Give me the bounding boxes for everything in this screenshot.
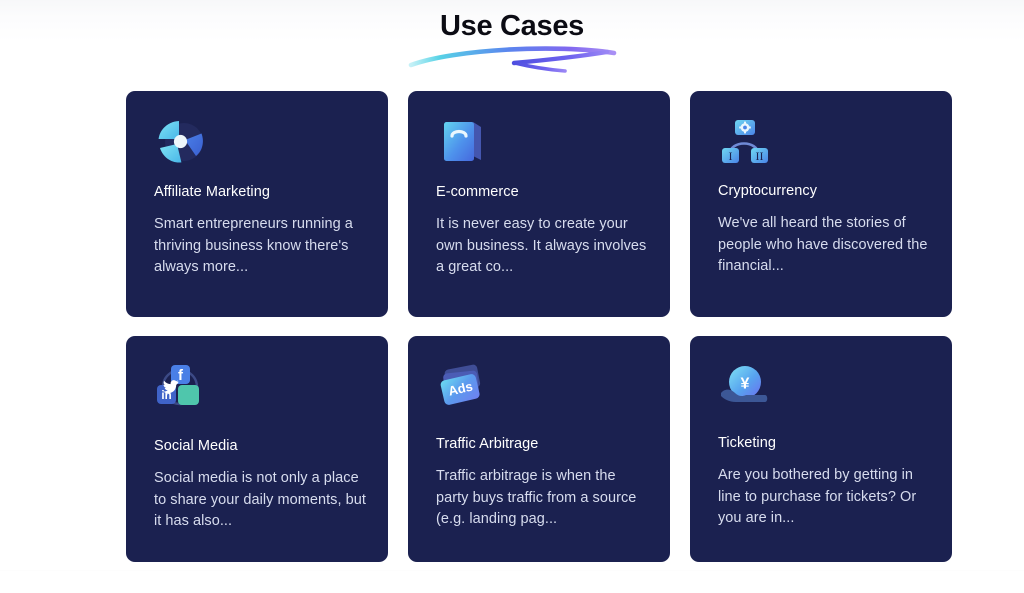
crypto-node-left-label: I [729, 149, 733, 163]
use-cases-section: Use Cases [0, 0, 1024, 593]
use-case-description: It is never easy to create your own busi… [436, 214, 648, 279]
use-case-title: Affiliate Marketing [154, 182, 366, 202]
network-nodes-gear-icon: I II [718, 116, 776, 170]
use-case-card[interactable]: ¥ Ticketing Are you bothered by getting … [690, 336, 952, 562]
use-case-card[interactable]: E-commerce It is never easy to create yo… [408, 91, 670, 317]
social-network-logos-icon: f in [154, 361, 212, 415]
use-case-description: We've all heard the stories of people wh… [718, 213, 930, 278]
yen-symbol: ¥ [741, 376, 750, 393]
use-case-title: Ticketing [718, 433, 930, 453]
use-case-card[interactable]: Ads Traffic Arbitrage Traffic arbitrage … [408, 336, 670, 562]
ads-cards-icon: Ads [436, 361, 494, 415]
use-case-description: Are you bothered by getting in line to p… [718, 465, 930, 530]
section-header: Use Cases [0, 6, 1024, 78]
hand-holding-yen-icon: ¥ [718, 361, 776, 415]
use-case-description: Social media is not only a place to shar… [154, 468, 366, 533]
use-case-title: E-commerce [436, 182, 648, 202]
page-title: Use Cases [0, 6, 1024, 46]
use-case-title: Social Media [154, 436, 366, 456]
use-case-card[interactable]: Affiliate Marketing Smart entrepreneurs … [126, 91, 388, 317]
use-case-description: Smart entrepreneurs running a thriving b… [154, 214, 366, 279]
pinwheel-icon [154, 115, 212, 169]
use-case-card[interactable]: f in Social Media Social media is not on… [126, 336, 388, 562]
use-case-card[interactable]: I II Cryptocurrency We've all heard the … [690, 91, 952, 317]
use-case-title: Traffic Arbitrage [436, 434, 648, 454]
use-case-card-grid: Affiliate Marketing Smart entrepreneurs … [126, 91, 952, 562]
gradient-swoosh-underline-icon [407, 44, 617, 78]
use-case-description: Traffic arbitrage is when the party buys… [436, 466, 648, 531]
crypto-node-right-label: II [756, 149, 764, 163]
shopping-bag-icon [436, 116, 494, 170]
use-case-title: Cryptocurrency [718, 181, 930, 201]
bottom-divider [0, 570, 1024, 571]
